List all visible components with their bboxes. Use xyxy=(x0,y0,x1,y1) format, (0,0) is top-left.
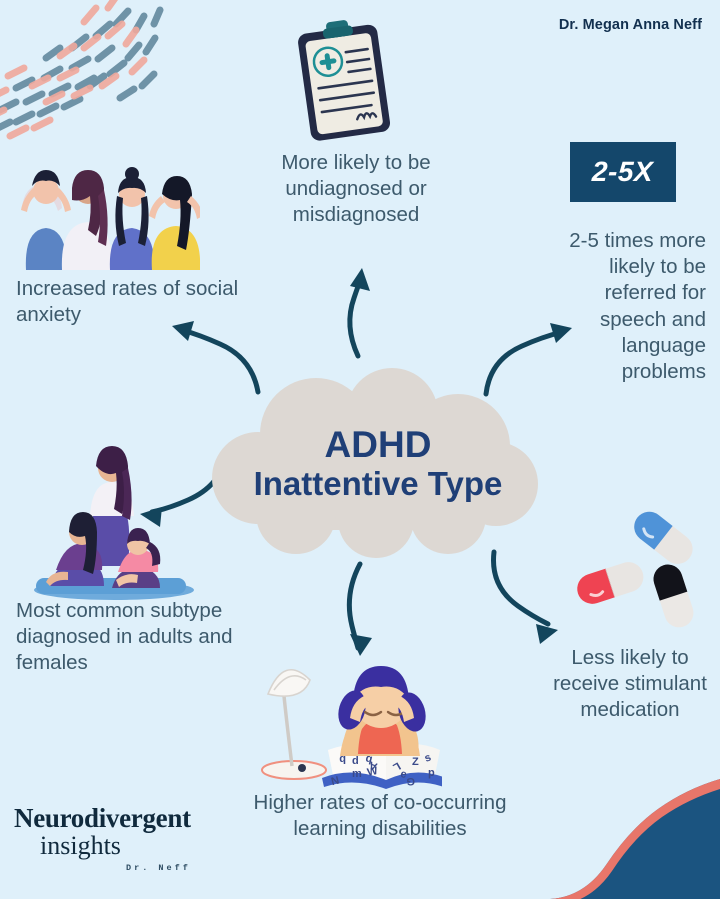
logo-line1: Neurodivergent xyxy=(14,805,230,832)
logo-line2: insights xyxy=(40,833,230,859)
caption-stimulant-medication: Less likely to receive stimulant medicat… xyxy=(548,645,712,724)
multiplier-badge: 2-5X xyxy=(570,142,676,202)
svg-text:G: G xyxy=(406,775,415,787)
caption-social-anxiety: Increased rates of social anxiety xyxy=(16,276,248,328)
group-of-people-illustration xyxy=(4,148,200,270)
svg-text:p: p xyxy=(428,767,435,779)
svg-text:Z: Z xyxy=(412,756,419,768)
author-byline: Dr. Megan Anna Neff xyxy=(559,17,702,33)
caption-most-common-subtype: Most common subtype diagnosed in adults … xyxy=(16,598,252,677)
caption-speech-language: 2-5 times more likely to be referred for… xyxy=(560,228,706,385)
corner-blob-decoration xyxy=(550,779,720,899)
arrow-down-right-icon xyxy=(482,542,592,652)
arrow-down-icon xyxy=(312,556,417,666)
multiplier-badge-value: 2-5X xyxy=(592,156,654,188)
svg-text:m: m xyxy=(352,768,362,780)
caption-learning-disabilities: Higher rates of co-occurring learning di… xyxy=(252,790,508,842)
arrow-up-icon xyxy=(300,258,410,363)
cloud-shape xyxy=(196,368,560,558)
decorative-dash-pattern xyxy=(0,0,186,140)
svg-text:d: d xyxy=(352,755,359,767)
infographic-canvas: Dr. Megan Anna Neff xyxy=(0,0,720,899)
clipboard-icon xyxy=(290,14,408,150)
logo-line3: Dr. Neff xyxy=(126,863,230,873)
caption-undiagnosed: More likely to be undiagnosed or misdiag… xyxy=(228,150,484,229)
brand-logo: Neurodivergent insights Dr. Neff xyxy=(14,805,230,885)
central-cloud: ADHD Inattentive Type xyxy=(196,368,560,558)
